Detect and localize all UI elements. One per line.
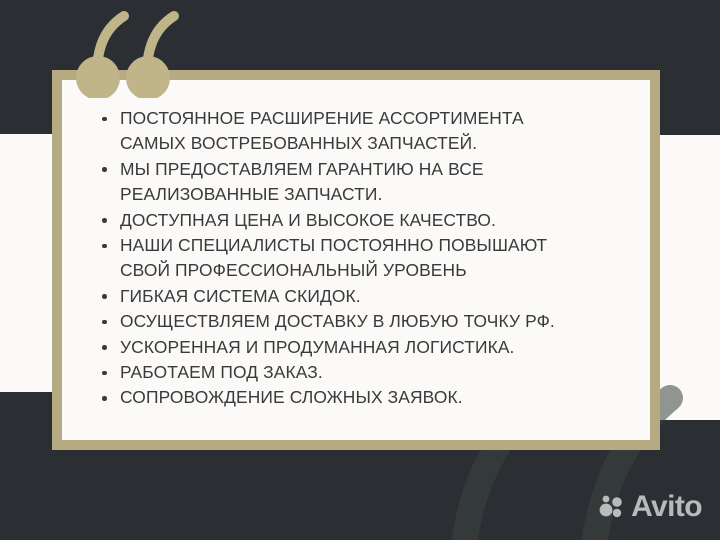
quote-card: ПОСТОЯННОЕ РАСШИРЕНИЕ АССОРТИМЕНТА САМЫХ… [52, 70, 660, 450]
benefits-list: ПОСТОЯННОЕ РАСШИРЕНИЕ АССОРТИМЕНТА САМЫХ… [96, 106, 620, 411]
avito-dots-icon [599, 494, 625, 520]
list-item: МЫ ПРЕДОСТАВЛЯЕМ ГАРАНТИЮ НА ВСЕ РЕАЛИЗО… [96, 157, 620, 208]
avito-watermark: Avito [599, 492, 702, 522]
list-item: ПОСТОЯННОЕ РАСШИРЕНИЕ АССОРТИМЕНТА САМЫХ… [96, 106, 620, 157]
quote-mark-icon [72, 6, 192, 98]
list-item: ОСУЩЕСТВЛЯЕМ ДОСТАВКУ В ЛЮБУЮ ТОЧКУ РФ. [96, 309, 620, 334]
avito-wordmark: Avito [631, 492, 702, 522]
slide-canvas: ПОСТОЯННОЕ РАСШИРЕНИЕ АССОРТИМЕНТА САМЫХ… [0, 0, 720, 540]
list-item: ДОСТУПНАЯ ЦЕНА И ВЫСОКОЕ КАЧЕСТВО. [96, 208, 620, 233]
list-item: РАБОТАЕМ ПОД ЗАКАЗ. [96, 360, 620, 385]
list-item: ГИБКАЯ СИСТЕМА СКИДОК. [96, 284, 620, 309]
list-item: УСКОРЕННАЯ И ПРОДУМАННАЯ ЛОГИСТИКА. [96, 335, 620, 360]
list-item: СОПРОВОЖДЕНИЕ СЛОЖНЫХ ЗАЯВОК. [96, 385, 620, 410]
quote-card-inner: ПОСТОЯННОЕ РАСШИРЕНИЕ АССОРТИМЕНТА САМЫХ… [62, 80, 650, 440]
list-item: НАШИ СПЕЦИАЛИСТЫ ПОСТОЯННО ПОВЫШАЮТ СВОЙ… [96, 233, 620, 284]
